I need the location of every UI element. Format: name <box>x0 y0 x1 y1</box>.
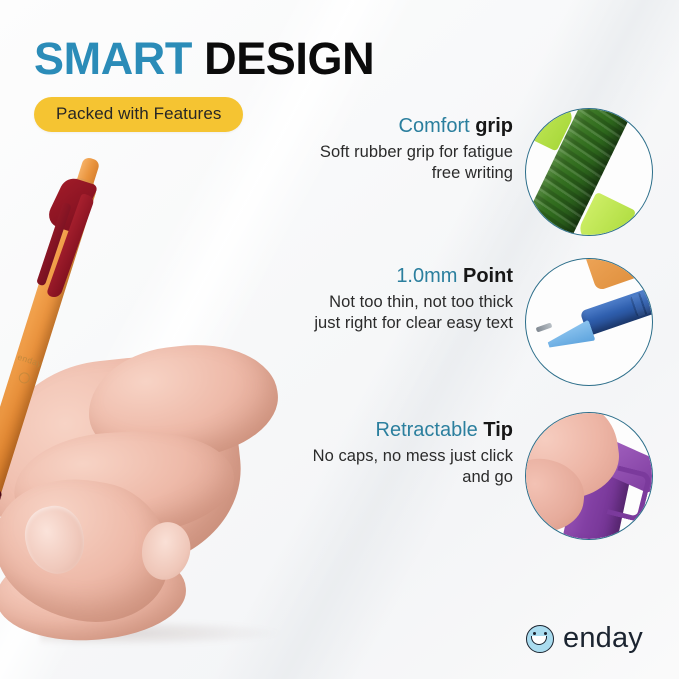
page-title: SMART DESIGN <box>34 34 374 83</box>
circle-clip <box>526 109 652 235</box>
brand-logo: enday <box>526 624 643 653</box>
blue-circle-orange-accent <box>581 259 640 291</box>
feature-title: Retractable Tip <box>308 418 513 442</box>
purple-clicker-illustration <box>526 413 652 539</box>
green-grip-illustration <box>526 109 652 235</box>
feature-title-accent: Retractable <box>376 419 478 441</box>
blue-pen-cone <box>545 320 596 356</box>
feature-image-circle-green-grip <box>525 108 653 236</box>
feature-title-bold: Point <box>463 265 513 287</box>
blue-pen-illustration <box>526 259 652 385</box>
feature-title-bold: Tip <box>483 419 513 441</box>
feature-text-block: Retractable Tip No caps, no mess just cl… <box>308 418 513 487</box>
feature-title: 1.0mm Point <box>308 264 513 288</box>
page-title-accent: SMART <box>34 33 192 84</box>
feature-image-circle-purple-clicker <box>525 412 653 540</box>
brand-name: enday <box>563 624 643 653</box>
infographic-canvas: SMART DESIGN Packed with Features enday <box>0 0 679 679</box>
smiley-eye-left <box>533 632 536 635</box>
smiley-face-icon <box>526 625 554 653</box>
feature-description: Not too thin, not too thick just right f… <box>308 292 513 333</box>
feature-point-size: 1.0mm Point Not too thin, not too thick … <box>301 258 661 398</box>
feature-text-block: 1.0mm Point Not too thin, not too thick … <box>308 264 513 333</box>
feature-description: Soft rubber grip for fatigue free writin… <box>308 142 513 183</box>
features-badge: Packed with Features <box>34 97 243 132</box>
pen-clip <box>26 175 105 305</box>
feature-retractable-tip: Retractable Tip No caps, no mess just cl… <box>301 412 661 552</box>
feature-image-circle-blue-tip <box>525 258 653 386</box>
feature-title-accent: 1.0mm <box>396 265 457 287</box>
smiley-eye-right <box>544 632 547 635</box>
blue-pen-nib <box>536 323 553 333</box>
feature-title-accent: Comfort <box>399 115 470 137</box>
smiley-mouth <box>531 636 547 646</box>
feature-description: No caps, no mess just click and go <box>308 446 513 487</box>
feature-text-block: Comfort grip Soft rubber grip for fatigu… <box>308 114 513 183</box>
feature-comfort-grip: Comfort grip Soft rubber grip for fatigu… <box>301 108 661 248</box>
circle-clip <box>526 259 652 385</box>
feature-title-bold: grip <box>475 115 513 137</box>
circle-clip <box>526 413 652 539</box>
feature-title: Comfort grip <box>308 114 513 138</box>
page-title-main-word: DESIGN <box>204 33 374 84</box>
page-title-main <box>192 33 204 84</box>
